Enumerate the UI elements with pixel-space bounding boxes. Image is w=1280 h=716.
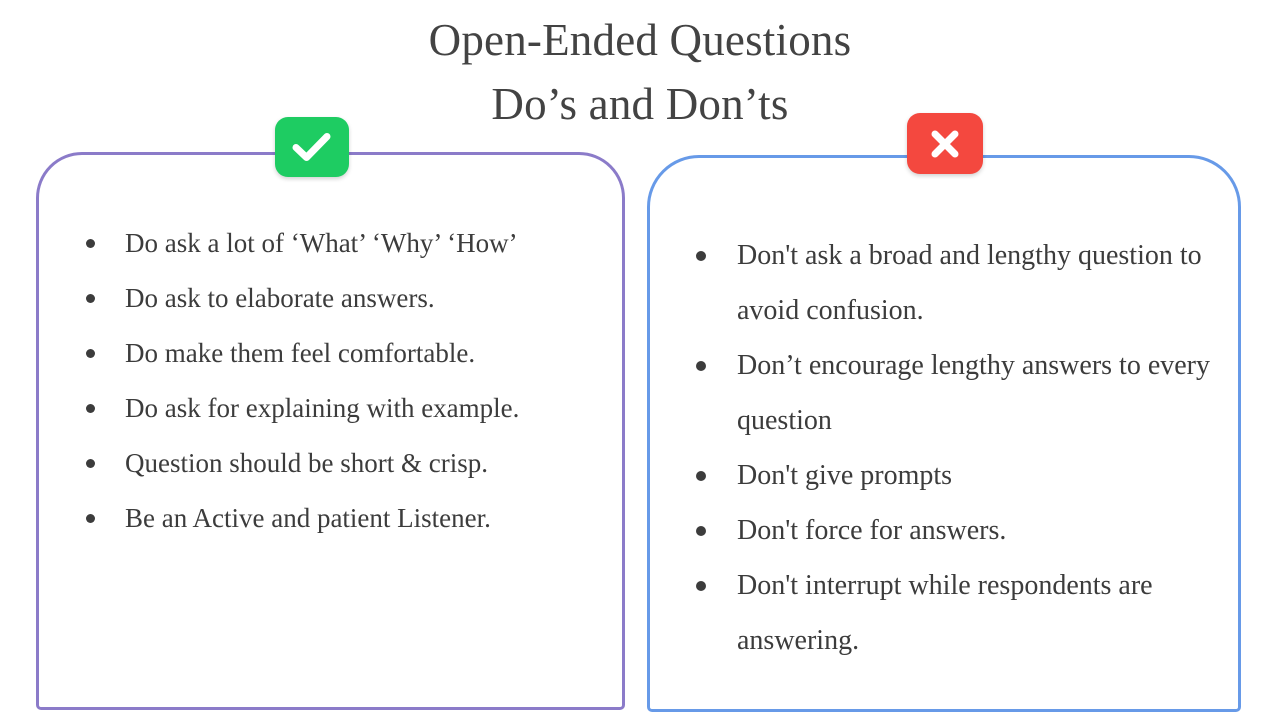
check-mark-icon: [275, 117, 349, 177]
list-item: Do ask a lot of ‘What’ ‘Why’ ‘How’: [86, 216, 606, 271]
list-item: Don't force for answers.: [696, 503, 1216, 558]
list-item: Don't give prompts: [696, 448, 1216, 503]
bullet-icon: [696, 526, 706, 536]
bullet-icon: [86, 514, 95, 523]
do-list: Do ask a lot of ‘What’ ‘Why’ ‘How’ Do as…: [86, 216, 606, 546]
slide-canvas: Open-Ended Questions Do’s and Don’ts Do …: [0, 0, 1280, 716]
dont-item-3: Don't give prompts: [737, 448, 1216, 503]
do-item-3: Do make them feel comfortable.: [125, 326, 606, 381]
bullet-icon: [696, 251, 706, 261]
bullet-icon: [696, 471, 706, 481]
dont-item-4: Don't force for answers.: [737, 503, 1216, 558]
list-item: Question should be short & crisp.: [86, 436, 606, 491]
bullet-icon: [86, 349, 95, 358]
list-item: Do ask to elaborate answers.: [86, 271, 606, 326]
bullet-icon: [696, 581, 706, 591]
list-item: Do ask for explaining with example.: [86, 381, 606, 436]
bullet-icon: [86, 404, 95, 413]
dont-item-1: Don't ask a broad and lengthy question t…: [737, 228, 1216, 338]
list-item: Be an Active and patient Listener.: [86, 491, 606, 546]
dont-item-2: Don’t encourage lengthy answers to every…: [737, 338, 1216, 448]
page-title: Open-Ended Questions Do’s and Don’ts: [0, 8, 1280, 136]
title-line-1: Open-Ended Questions: [0, 8, 1280, 72]
bullet-icon: [696, 361, 706, 371]
cross-mark-icon: [907, 113, 983, 174]
bullet-icon: [86, 459, 95, 468]
dont-list: Don't ask a broad and lengthy question t…: [696, 228, 1216, 668]
list-item: Do make them feel comfortable.: [86, 326, 606, 381]
do-item-4: Do ask for explaining with example.: [125, 381, 606, 436]
do-item-6: Be an Active and patient Listener.: [125, 491, 606, 546]
do-item-5: Question should be short & crisp.: [125, 436, 606, 491]
dont-item-5: Don't interrupt while respondents are an…: [737, 558, 1216, 668]
do-item-2: Do ask to elaborate answers.: [125, 271, 606, 326]
do-item-1: Do ask a lot of ‘What’ ‘Why’ ‘How’: [125, 216, 606, 271]
list-item: Don’t encourage lengthy answers to every…: [696, 338, 1216, 448]
title-line-2: Do’s and Don’ts: [0, 72, 1280, 136]
list-item: Don't interrupt while respondents are an…: [696, 558, 1216, 668]
list-item: Don't ask a broad and lengthy question t…: [696, 228, 1216, 338]
bullet-icon: [86, 239, 95, 248]
bullet-icon: [86, 294, 95, 303]
